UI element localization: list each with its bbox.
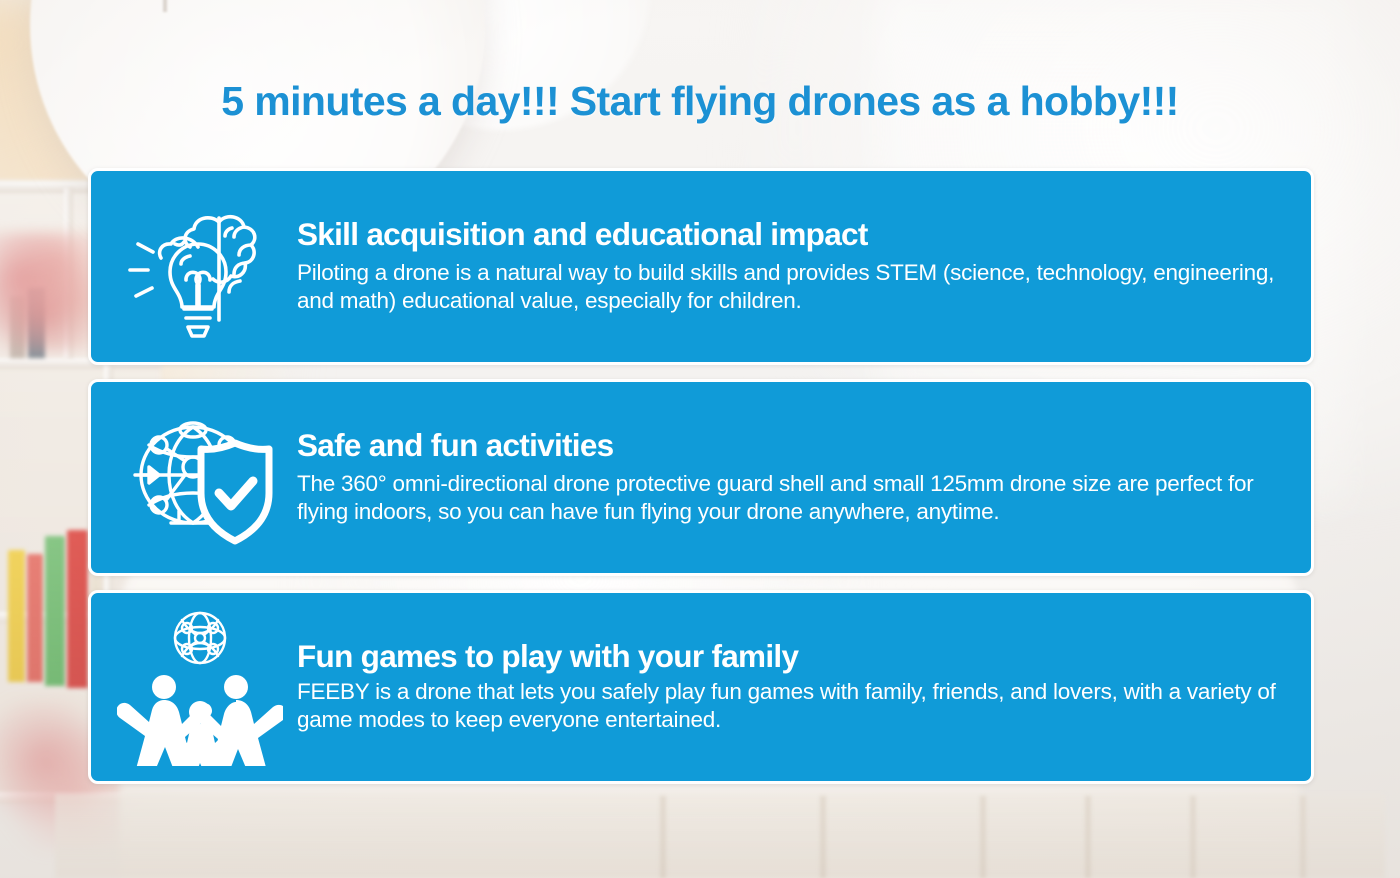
- feature-card-title: Skill acquisition and educational impact: [297, 217, 1281, 252]
- drone-shield-check-icon: [109, 394, 291, 562]
- lightbulb-brain-icon: [109, 183, 291, 351]
- family-with-drone-icon: [109, 603, 291, 771]
- page-title: 5 minutes a day!!! Start flying drones a…: [0, 78, 1400, 125]
- feature-card-body: Skill acquisition and educational impact…: [291, 217, 1285, 315]
- promo-banner: 5 minutes a day!!! Start flying drones a…: [0, 0, 1400, 878]
- feature-card-title: Fun games to play with your family: [297, 639, 1281, 674]
- feature-card-title: Safe and fun activities: [297, 428, 1281, 463]
- feature-card-text: FEEBY is a drone that lets you safely pl…: [297, 678, 1281, 735]
- feature-card-text: Piloting a drone is a natural way to bui…: [297, 259, 1281, 316]
- feature-card-family-games[interactable]: Fun games to play with your family FEEBY…: [88, 590, 1314, 784]
- feature-card-text: The 360° omni-directional drone protecti…: [297, 470, 1281, 527]
- feature-card-safe-fun[interactable]: Safe and fun activities The 360° omni-di…: [88, 379, 1314, 576]
- feature-card-body: Fun games to play with your family FEEBY…: [291, 639, 1285, 734]
- feature-card-body: Safe and fun activities The 360° omni-di…: [291, 428, 1285, 526]
- feature-card-list: Skill acquisition and educational impact…: [88, 168, 1314, 784]
- feature-card-skill-acquisition[interactable]: Skill acquisition and educational impact…: [88, 168, 1314, 365]
